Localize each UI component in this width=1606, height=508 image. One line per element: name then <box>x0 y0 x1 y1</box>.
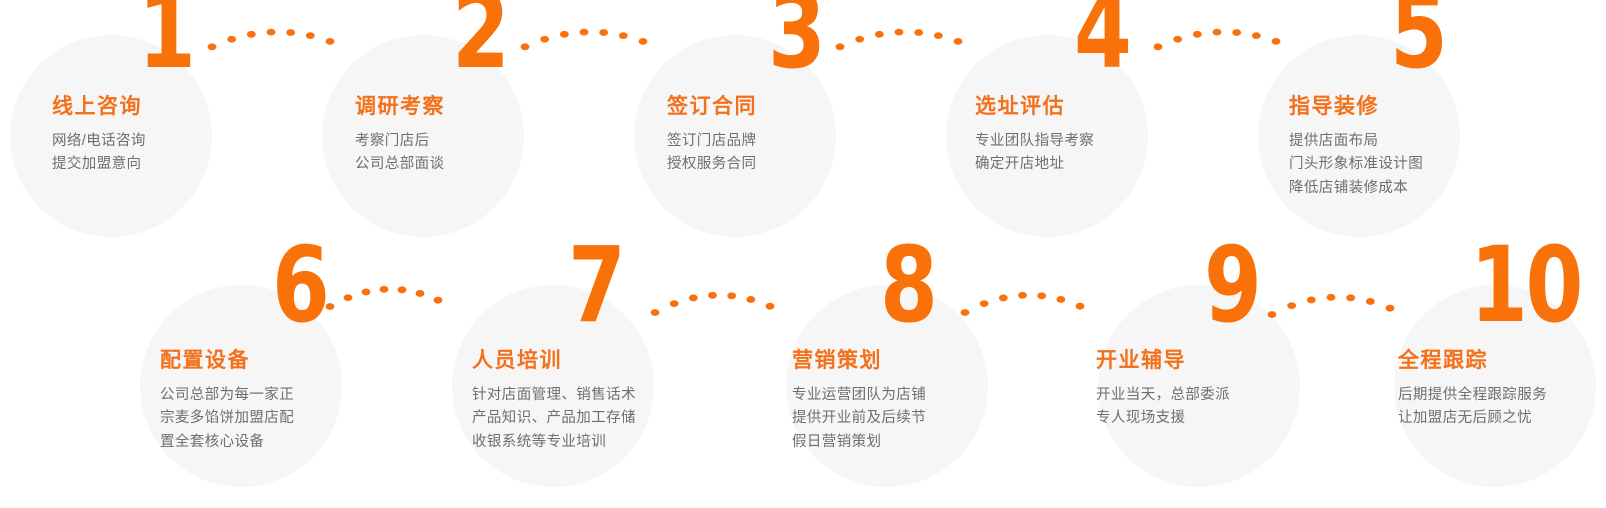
arc-dot <box>619 32 628 39</box>
arc-dot <box>326 303 335 310</box>
arc-dot <box>1327 294 1336 301</box>
arc-dot <box>599 29 608 36</box>
arc-dot <box>1268 311 1277 318</box>
step-number-1: 1 <box>138 0 194 80</box>
step-description-line: 让加盟店无后顾之忧 <box>1398 407 1547 430</box>
step-description-line: 公司总部面谈 <box>355 153 445 176</box>
arc-dot <box>326 38 335 45</box>
step-number-10: 10 <box>1470 238 1581 334</box>
arc-dot <box>380 286 389 293</box>
arc-dot <box>540 36 549 43</box>
arc-dot <box>855 36 864 43</box>
arc-dot <box>1252 32 1261 39</box>
step-number-9: 9 <box>1204 238 1260 334</box>
arc-dot <box>1076 303 1085 310</box>
connector-arc-9-to-10 <box>1272 290 1390 324</box>
step-title-7: 人员培训 <box>472 350 636 371</box>
arc-dot <box>639 38 648 45</box>
step-description-3: 签订门店品牌授权服务合同 <box>667 130 757 177</box>
arc-dot <box>267 29 276 36</box>
step-description-line: 针对店面管理、销售话术 <box>472 384 636 407</box>
step-description-9: 开业当天，总部委派专人现场支援 <box>1096 384 1230 431</box>
step-title-10: 全程跟踪 <box>1398 350 1547 371</box>
step-description-line: 产品知识、产品加工存储 <box>472 407 636 430</box>
step-description-10: 后期提供全程跟踪服务让加盟店无后顾之忧 <box>1398 384 1547 431</box>
step-number-6: 6 <box>272 238 328 334</box>
arc-dot <box>999 295 1008 302</box>
arc-dot <box>980 300 989 307</box>
step-title-9: 开业辅导 <box>1096 350 1230 371</box>
arc-dot <box>521 43 530 50</box>
step-title-3: 签订合同 <box>667 96 757 117</box>
step-number-3: 3 <box>768 0 824 80</box>
arc-dot <box>895 29 904 36</box>
step-description-line: 专业运营团队为店铺 <box>792 384 926 407</box>
arc-dot <box>1346 294 1355 301</box>
step-content-10: 全程跟踪后期提供全程跟踪服务让加盟店无后顾之忧 <box>1398 350 1547 431</box>
arc-dot <box>344 294 353 301</box>
step-content-5: 指导装修提供店面布局门头形象标准设计图降低店铺装修成本 <box>1289 96 1423 200</box>
step-description-line: 考察门店后 <box>355 130 445 153</box>
step-content-6: 配置设备公司总部为每一家正宗麦多馅饼加盟店配置全套核心设备 <box>160 350 294 454</box>
connector-arc-3-to-4 <box>840 18 958 58</box>
arc-dot <box>1154 43 1163 50</box>
step-description-2: 考察门店后公司总部面谈 <box>355 130 445 177</box>
arc-dot <box>1056 296 1065 303</box>
arc-dot <box>689 295 698 302</box>
step-description-line: 门头形象标准设计图 <box>1289 153 1423 176</box>
arc-dot <box>416 290 425 297</box>
step-description-line: 收银系统等专业培训 <box>472 431 636 454</box>
arc-dot <box>1366 298 1375 305</box>
step-number-2: 2 <box>452 0 508 80</box>
connector-arc-1-to-2 <box>212 18 330 58</box>
arc-dot <box>708 292 717 299</box>
arc-dot <box>580 29 589 36</box>
step-description-line: 公司总部为每一家正 <box>160 384 294 407</box>
step-number-7: 7 <box>568 238 624 334</box>
arc-dot <box>306 32 315 39</box>
arc-dot <box>434 297 443 304</box>
step-content-2: 调研考察考察门店后公司总部面谈 <box>355 96 445 177</box>
arc-dot <box>651 309 660 316</box>
step-number-8: 8 <box>880 238 936 334</box>
arc-dot <box>1386 305 1395 312</box>
step-title-8: 营销策划 <box>792 350 926 371</box>
step-description-line: 签订门店品牌 <box>667 130 757 153</box>
step-description-line: 提交加盟意向 <box>52 153 146 176</box>
step-description-line: 提供开业前及后续节 <box>792 407 926 430</box>
connector-arc-7-to-8 <box>655 288 770 322</box>
step-content-9: 开业辅导开业当天，总部委派专人现场支援 <box>1096 350 1230 431</box>
arc-dot <box>836 43 845 50</box>
connector-arc-8-to-9 <box>965 288 1080 322</box>
franchise-process-diagram: 1线上咨询网络/电话咨询提交加盟意向2调研考察考察门店后公司总部面谈3签订合同签… <box>0 0 1606 508</box>
step-content-7: 人员培训针对店面管理、销售话术产品知识、产品加工存储收银系统等专业培训 <box>472 350 636 454</box>
step-number-4: 4 <box>1074 0 1130 80</box>
arc-dot <box>934 32 943 39</box>
step-description-6: 公司总部为每一家正宗麦多馅饼加盟店配置全套核心设备 <box>160 384 294 454</box>
arc-dot <box>954 38 963 45</box>
arc-dot <box>1287 302 1296 309</box>
step-content-8: 营销策划专业运营团队为店铺提供开业前及后续节假日营销策划 <box>792 350 926 454</box>
step-title-2: 调研考察 <box>355 96 445 117</box>
arc-dot <box>766 303 775 310</box>
arc-dot <box>961 309 970 316</box>
step-description-5: 提供店面布局门头形象标准设计图降低店铺装修成本 <box>1289 130 1423 200</box>
arc-dot <box>1213 29 1222 36</box>
step-description-line: 假日营销策划 <box>792 431 926 454</box>
arc-dot <box>1037 292 1046 299</box>
arc-dot <box>286 29 295 36</box>
step-description-line: 降低店铺装修成本 <box>1289 177 1423 200</box>
step-description-line: 专人现场支援 <box>1096 407 1230 430</box>
step-content-3: 签订合同签订门店品牌授权服务合同 <box>667 96 757 177</box>
arc-dot <box>914 29 923 36</box>
step-title-5: 指导装修 <box>1289 96 1423 117</box>
step-description-8: 专业运营团队为店铺提供开业前及后续节假日营销策划 <box>792 384 926 454</box>
arc-dot <box>1193 31 1202 38</box>
arc-dot <box>1272 38 1281 45</box>
step-content-1: 线上咨询网络/电话咨询提交加盟意向 <box>52 96 146 177</box>
step-description-7: 针对店面管理、销售话术产品知识、产品加工存储收银系统等专业培训 <box>472 384 636 454</box>
connector-arc-2-to-3 <box>525 18 643 58</box>
step-description-line: 确定开店地址 <box>975 153 1094 176</box>
step-description-line: 置全套核心设备 <box>160 431 294 454</box>
arc-dot <box>1307 297 1316 304</box>
arc-dot <box>398 286 407 293</box>
arc-dot <box>1173 36 1182 43</box>
step-title-1: 线上咨询 <box>52 96 146 117</box>
arc-dot <box>670 300 679 307</box>
step-description-line: 网络/电话咨询 <box>52 130 146 153</box>
step-description-line: 宗麦多馅饼加盟店配 <box>160 407 294 430</box>
step-description-line: 提供店面布局 <box>1289 130 1423 153</box>
step-title-4: 选址评估 <box>975 96 1094 117</box>
arc-dot <box>1018 292 1027 299</box>
arc-dot <box>875 31 884 38</box>
arc-dot <box>247 31 256 38</box>
step-number-5: 5 <box>1390 0 1446 80</box>
arc-dot <box>560 31 569 38</box>
connector-arc-4-to-5 <box>1158 18 1276 58</box>
step-description-line: 授权服务合同 <box>667 153 757 176</box>
arc-dot <box>727 292 736 299</box>
step-description-line: 开业当天，总部委派 <box>1096 384 1230 407</box>
step-title-6: 配置设备 <box>160 350 294 371</box>
arc-dot <box>1232 29 1241 36</box>
step-description-4: 专业团队指导考察确定开店地址 <box>975 130 1094 177</box>
step-description-line: 专业团队指导考察 <box>975 130 1094 153</box>
step-description-line: 后期提供全程跟踪服务 <box>1398 384 1547 407</box>
step-description-1: 网络/电话咨询提交加盟意向 <box>52 130 146 177</box>
arc-dot <box>362 289 371 296</box>
step-content-4: 选址评估专业团队指导考察确定开店地址 <box>975 96 1094 177</box>
arc-dot <box>746 296 755 303</box>
connector-arc-6-to-7 <box>330 282 438 316</box>
arc-dot <box>208 43 217 50</box>
arc-dot <box>227 36 236 43</box>
